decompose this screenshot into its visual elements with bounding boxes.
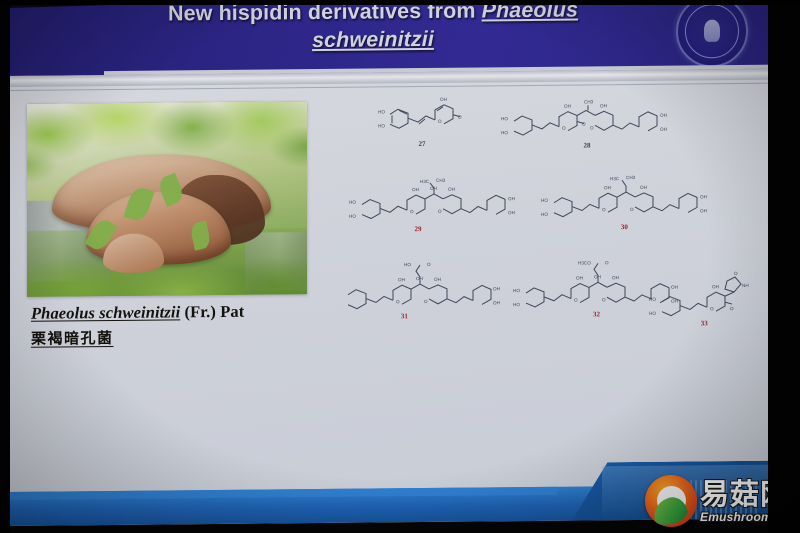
compound-29-structure: HOHO OHO H3CCH3 OH OHO OHOH xyxy=(346,175,526,227)
frame-top-border xyxy=(0,0,800,5)
svg-text:O: O xyxy=(562,126,566,131)
svg-text:HO: HO xyxy=(501,116,508,121)
page-title: New hispidin derivatives from Phaeolus s… xyxy=(68,0,678,56)
svg-text:OH: OH xyxy=(493,300,500,305)
svg-text:O: O xyxy=(590,125,594,130)
title-species-epithet: schweinitzii xyxy=(312,26,434,51)
svg-text:HO: HO xyxy=(649,311,656,316)
svg-text:CH3: CH3 xyxy=(626,175,636,180)
svg-text:CH3: CH3 xyxy=(584,99,594,104)
svg-text:H3C: H3C xyxy=(610,176,620,181)
compound-31-structure: OHO HOO OH OHO OHOH xyxy=(334,261,510,315)
svg-text:O: O xyxy=(730,306,734,311)
svg-text:OH: OH xyxy=(604,185,611,190)
svg-text:HO: HO xyxy=(541,212,548,217)
svg-text:O: O xyxy=(605,260,609,265)
compound-27-label: 27 xyxy=(419,140,426,148)
svg-text:OH: OH xyxy=(660,127,667,132)
svg-text:OH: OH xyxy=(594,274,601,279)
svg-text:OH: OH xyxy=(448,187,455,192)
svg-text:HO: HO xyxy=(378,109,385,114)
compound-33-label: 33 xyxy=(701,319,708,327)
svg-text:O: O xyxy=(734,271,738,276)
svg-text:OH: OH xyxy=(612,275,619,280)
compound-31-label: 31 xyxy=(401,312,408,320)
svg-text:OH: OH xyxy=(412,187,419,192)
svg-text:HO: HO xyxy=(501,130,508,135)
svg-text:O: O xyxy=(582,121,586,126)
svg-text:OH: OH xyxy=(430,186,437,191)
svg-text:H3C: H3C xyxy=(420,179,430,184)
svg-text:O: O xyxy=(458,115,462,120)
compound-30-structure: HOHO OHO H3CCH3 OHO OHOH xyxy=(538,173,718,225)
compound-33: HOHO OHO O NHO 33 xyxy=(646,273,758,332)
compound-28-label: 28 xyxy=(584,141,591,149)
svg-text:HO: HO xyxy=(349,214,356,219)
svg-text:CH3: CH3 xyxy=(436,178,446,183)
compound-32-label: 32 xyxy=(593,310,600,318)
svg-text:O: O xyxy=(438,119,442,124)
svg-text:O: O xyxy=(396,299,400,304)
caption-chinese-wrap: 栗褐暗孔菌 xyxy=(31,321,361,349)
svg-text:OH: OH xyxy=(493,286,500,291)
svg-text:OH: OH xyxy=(600,103,607,108)
caption-binomial: Phaeolus schweinitzii xyxy=(31,302,180,322)
chemical-structures-panel: HOHO OH O O 27 HOHO xyxy=(340,93,760,365)
projector-photo-frame: New hispidin derivatives from Phaeolus s… xyxy=(0,0,800,533)
svg-text:O: O xyxy=(427,262,431,267)
svg-text:O: O xyxy=(410,209,414,214)
svg-text:HO: HO xyxy=(513,288,520,293)
compound-30-label: 30 xyxy=(621,223,628,231)
svg-text:HO: HO xyxy=(404,262,411,267)
compound-29: HOHO OHO H3CCH3 OH OHO OHOH 29 xyxy=(346,175,526,235)
svg-text:OH: OH xyxy=(640,185,647,190)
svg-text:O: O xyxy=(710,306,714,311)
compound-30: HOHO OHO H3CCH3 OHO OHOH 30 xyxy=(538,173,718,233)
svg-text:OH: OH xyxy=(508,210,515,215)
svg-text:OH: OH xyxy=(564,104,571,109)
presentation-slide: New hispidin derivatives from Phaeolus s… xyxy=(8,0,770,526)
svg-text:OH: OH xyxy=(416,276,423,281)
svg-text:O: O xyxy=(438,209,442,214)
svg-text:O: O xyxy=(424,299,428,304)
institute-seal-icon xyxy=(676,0,748,68)
frame-right-border xyxy=(768,0,800,533)
svg-text:H3CO: H3CO xyxy=(578,260,591,265)
svg-text:O: O xyxy=(630,207,634,212)
photo-caption: Phaeolus schweinitzii (Fr.) Pat 栗褐暗孔菌 xyxy=(31,301,361,349)
svg-text:OH: OH xyxy=(700,208,707,213)
compound-27-structure: HOHO OH O O xyxy=(376,96,468,141)
caption-chinese-name: 栗褐暗孔菌 xyxy=(31,327,114,349)
compound-31: OHO HOO OH OHO OHOH 31 xyxy=(334,261,510,321)
svg-text:NH: NH xyxy=(742,283,749,288)
svg-text:OH: OH xyxy=(576,275,583,280)
compound-33-structure: HOHO OHO O NHO xyxy=(646,273,758,322)
svg-text:O: O xyxy=(602,297,606,302)
frame-left-border xyxy=(0,0,10,533)
svg-text:HO: HO xyxy=(378,123,385,128)
compound-27: HOHO OH O O 27 xyxy=(376,96,468,149)
compound-29-label: 29 xyxy=(415,225,422,233)
svg-text:HO: HO xyxy=(541,198,548,203)
svg-text:OH: OH xyxy=(434,277,441,282)
svg-text:HO: HO xyxy=(513,302,520,307)
compound-28: HOHO OHO O CH3 OHO OHOH 28 xyxy=(498,94,676,152)
compound-28-structure: HOHO OHO O CH3 OHO OHOH xyxy=(498,94,676,144)
svg-text:O: O xyxy=(602,207,606,212)
svg-text:O: O xyxy=(574,298,578,303)
emushroom-logo-icon xyxy=(645,475,697,527)
svg-text:OH: OH xyxy=(508,196,515,201)
svg-text:OH: OH xyxy=(660,113,667,118)
phaeolus-schweinitzii-photo xyxy=(27,101,307,297)
svg-text:OH: OH xyxy=(712,284,719,289)
svg-text:OH: OH xyxy=(700,194,707,199)
svg-text:HO: HO xyxy=(649,297,656,302)
caption-authority: (Fr.) Pat xyxy=(185,302,245,322)
svg-text:OH: OH xyxy=(398,277,405,282)
svg-text:OH: OH xyxy=(440,97,447,102)
slide-title-band: New hispidin derivatives from Phaeolus s… xyxy=(8,0,770,76)
svg-text:HO: HO xyxy=(349,200,356,205)
